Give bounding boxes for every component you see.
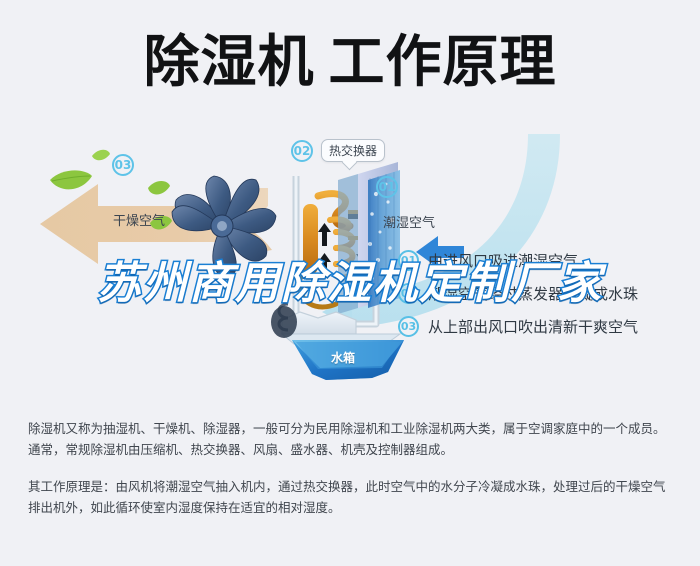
label-dry-air: 干燥空气 <box>113 210 165 229</box>
page-root: 除湿机工作原理 <box>0 0 700 566</box>
step-number: 03 <box>398 316 419 337</box>
description-paragraph-2: 其工作原理是：由风机将潮湿空气抽入机内，通过热交换器，此时空气中的水分子冷凝成水… <box>28 476 676 518</box>
badge-humid-air: 01 <box>376 176 398 198</box>
label-heat-exchanger: 热交换器 <box>321 139 385 162</box>
watermark-text: 苏州商用除湿机定制厂家 <box>0 262 700 306</box>
label-humid-air: 潮湿空气 <box>383 212 435 231</box>
description-block: 除湿机又称为抽湿机、干燥机、除湿器，一般可分为民用除湿机和工业除湿机两大类，属于… <box>28 418 676 518</box>
description-paragraph-1: 除湿机又称为抽湿机、干燥机、除湿器，一般可分为民用除湿机和工业除湿机两大类，属于… <box>28 418 676 460</box>
badge-dry-air: 03 <box>112 154 134 176</box>
page-title: 除湿机工作原理 <box>0 24 700 102</box>
step-text: 从上部出风口吹出清新干爽空气 <box>428 316 638 337</box>
title-part-1: 除湿机 <box>144 30 315 95</box>
label-water-tank: 水箱 <box>331 349 355 366</box>
title-part-2: 工作原理 <box>329 30 557 95</box>
badge-heat-exchanger: 02 <box>291 140 313 162</box>
list-item: 03 从上部出风口吹出清新干爽空气 <box>398 310 698 343</box>
